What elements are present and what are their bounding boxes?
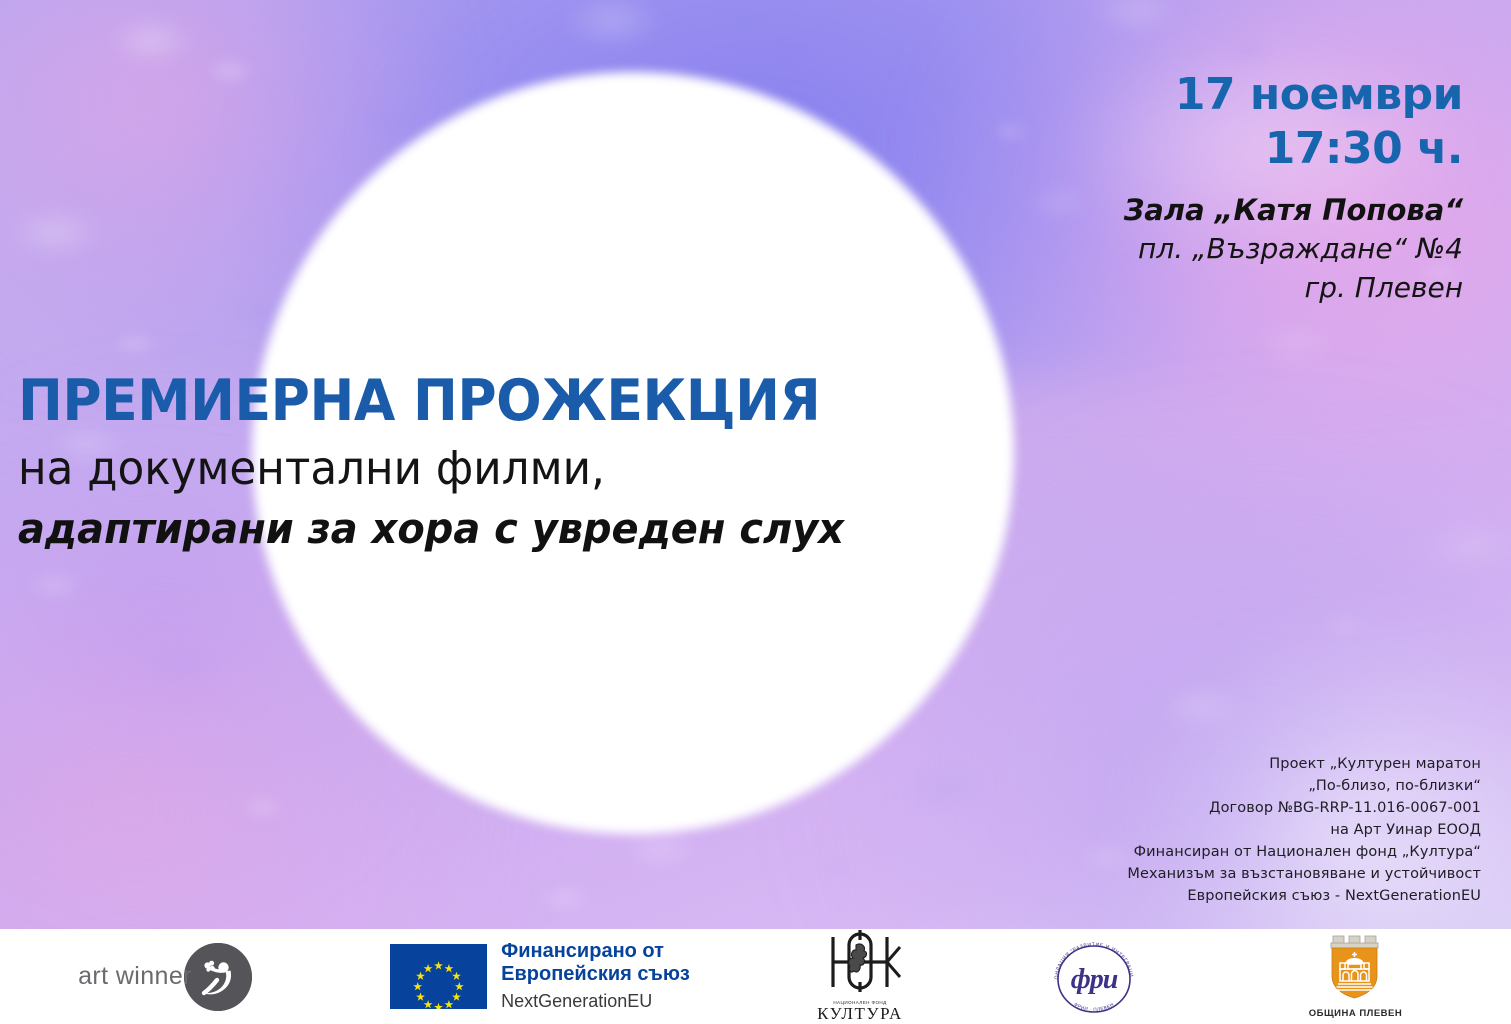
credit-line: Механизъм за възстановяване и устойчивос… [841,863,1481,885]
venue-block: Зала „Катя Попова“ пл. „Възраждане“ №4 г… [903,191,1463,307]
frii-stamp-icon: ФОНДАЦИЯ "РАЗВИТИЕ И ИНТЕГРАЦИЯ" ФРИИ · … [1046,938,1124,1016]
headline-block: ПРЕМИЕРНА ПРОЖЕКЦИЯ на документални филм… [18,372,898,551]
svg-text:ФРИИ · ПЛЕВЕН: ФРИИ · ПЛЕВЕН [1073,1001,1115,1011]
art-winner-figure-icon [184,943,252,1011]
poster-canvas: ПРЕМИЕРНА ПРОЖЕКЦИЯ на документални филм… [0,0,1511,1024]
venue-address: пл. „Възраждане“ №4 [903,230,1463,269]
credit-line: на Арт Уинар ЕООД [841,819,1481,841]
headline-tertiary: адаптирани за хора с увреден слух [18,506,854,551]
pleven-caption: ОБЩИНА ПЛЕВЕН [1309,1008,1402,1019]
eu-nextgeneration-label: NextGenerationEU [501,989,690,1013]
credit-line: Проект „Културен маратон [841,753,1481,775]
svg-text:фри: фри [1071,964,1118,995]
logo-art-winner: art winner [0,929,330,1024]
footer-logo-bar: art winner [0,929,1511,1024]
logo-european-union: Финансирано от Европейския съюз NextGene… [330,929,750,1024]
nfk-monogram-icon [816,981,904,998]
nfk-caption: КУЛТУРА [816,1004,904,1024]
headline-primary: ПРЕМИЕРНА ПРОЖЕКЦИЯ [18,372,845,430]
project-credits: Проект „Културен маратон „По-близо, по-б… [841,753,1481,907]
logo-national-culture-fund: НАЦИОНАЛЕН ФОНД КУЛТУРА [750,929,970,1024]
venue-hall-name: Зала „Катя Попова“ [903,191,1463,230]
venue-city: гр. Плевен [903,269,1463,308]
event-info-block: 17 ноември 17:30 ч. Зала „Катя Попова“ п… [903,68,1463,308]
credit-line: Европейския съюз - NextGenerationEU [841,885,1481,907]
event-time: 17:30 ч. [903,122,1463,176]
event-date: 17 ноември [903,68,1463,122]
eu-funded-line-2: Европейския съюз [501,963,690,987]
eu-funded-line-1: Финансирано от [501,940,690,964]
credit-line: „По-близо, по-близки“ [841,775,1481,797]
pleven-coat-of-arms-icon [1324,987,1386,1004]
logo-pleven-municipality: ОБЩИНА ПЛЕВЕН [1200,929,1511,1024]
credit-line: Договор №BG-RRP-11.016-0067-001 [841,797,1481,819]
art-winner-wordmark: art winner [78,962,192,991]
credit-line: Финансиран от Национален фонд „Култура“ [841,841,1481,863]
eu-flag-icon [390,944,487,1009]
logo-frii-foundation: ФОНДАЦИЯ "РАЗВИТИЕ И ИНТЕГРАЦИЯ" ФРИИ · … [970,929,1200,1024]
eu-text-block: Финансирано от Европейския съюз NextGene… [501,940,690,1013]
headline-secondary: на документални филми, [18,444,854,494]
